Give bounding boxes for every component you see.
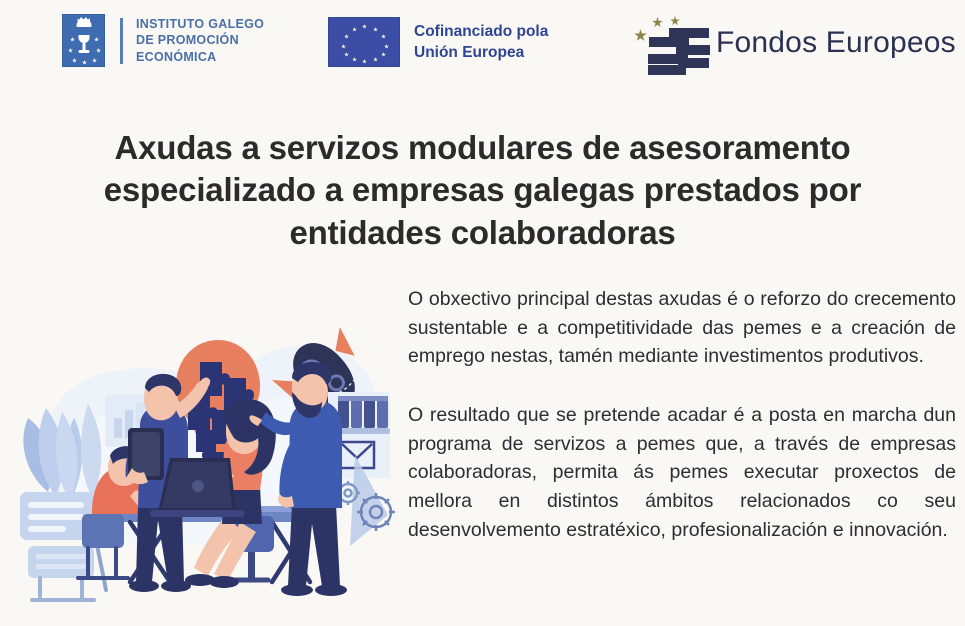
shield-star-icon [94,37,99,42]
fondos-europeos-label: Fondos Europeos [716,28,956,58]
igape-logo: INSTITUTO GALEGO DE PROMOCIÓN ECONÓMICA [62,14,264,67]
binder [377,400,388,428]
igape-line-3: ECONÓMICA [136,49,264,66]
page-title: Axudas a servizos modulares de asesorame… [32,127,933,254]
teamwork-office-illustration [10,300,400,620]
shield-star-icon [92,58,97,63]
shield-star-icon [82,60,87,65]
fondos-star-icon [652,17,663,28]
igape-line-1: INSTITUTO GALEGO [136,16,264,33]
fondos-europeos-logo: Fondos Europeos [618,10,956,76]
binder [351,400,362,428]
eu-wordmark: Cofinanciado pola Unión Europea [414,21,548,63]
shield-star-icon [96,48,101,53]
eu-line-2: Unión Europea [414,42,548,63]
chalice-icon [77,35,90,55]
eu-line-1: Cofinanciado pola [414,21,548,42]
fondos-europeos-mark-icon [618,10,710,76]
shield-star-icon [68,48,73,53]
body-paragraph: O obxectivo principal destas axudas é o … [408,285,956,371]
igape-wordmark: INSTITUTO GALEGO DE PROMOCIÓN ECONÓMICA [136,16,264,66]
crown-icon [76,20,91,27]
shield-star-icon [72,58,77,63]
fondos-star-icon [670,16,680,26]
igape-line-2: DE PROMOCIÓN [136,32,264,49]
fondos-star-icon [634,29,647,42]
european-union-logo: Cofinanciado pola Unión Europea [328,17,548,67]
european-union-flag-icon [328,17,400,67]
body-text-column: O obxectivo principal destas axudas é o … [408,285,956,544]
shield-star-icon [70,37,75,42]
logo-bar: INSTITUTO GALEGO DE PROMOCIÓN ECONÓMICA … [0,0,965,92]
body-paragraph: O resultado que se pretende acadar é a p… [408,401,956,544]
galicia-coat-of-arms-icon [62,14,105,67]
chair-back [28,546,94,578]
binder [364,400,375,428]
logo-divider [120,18,123,64]
chair-legs [32,578,94,600]
